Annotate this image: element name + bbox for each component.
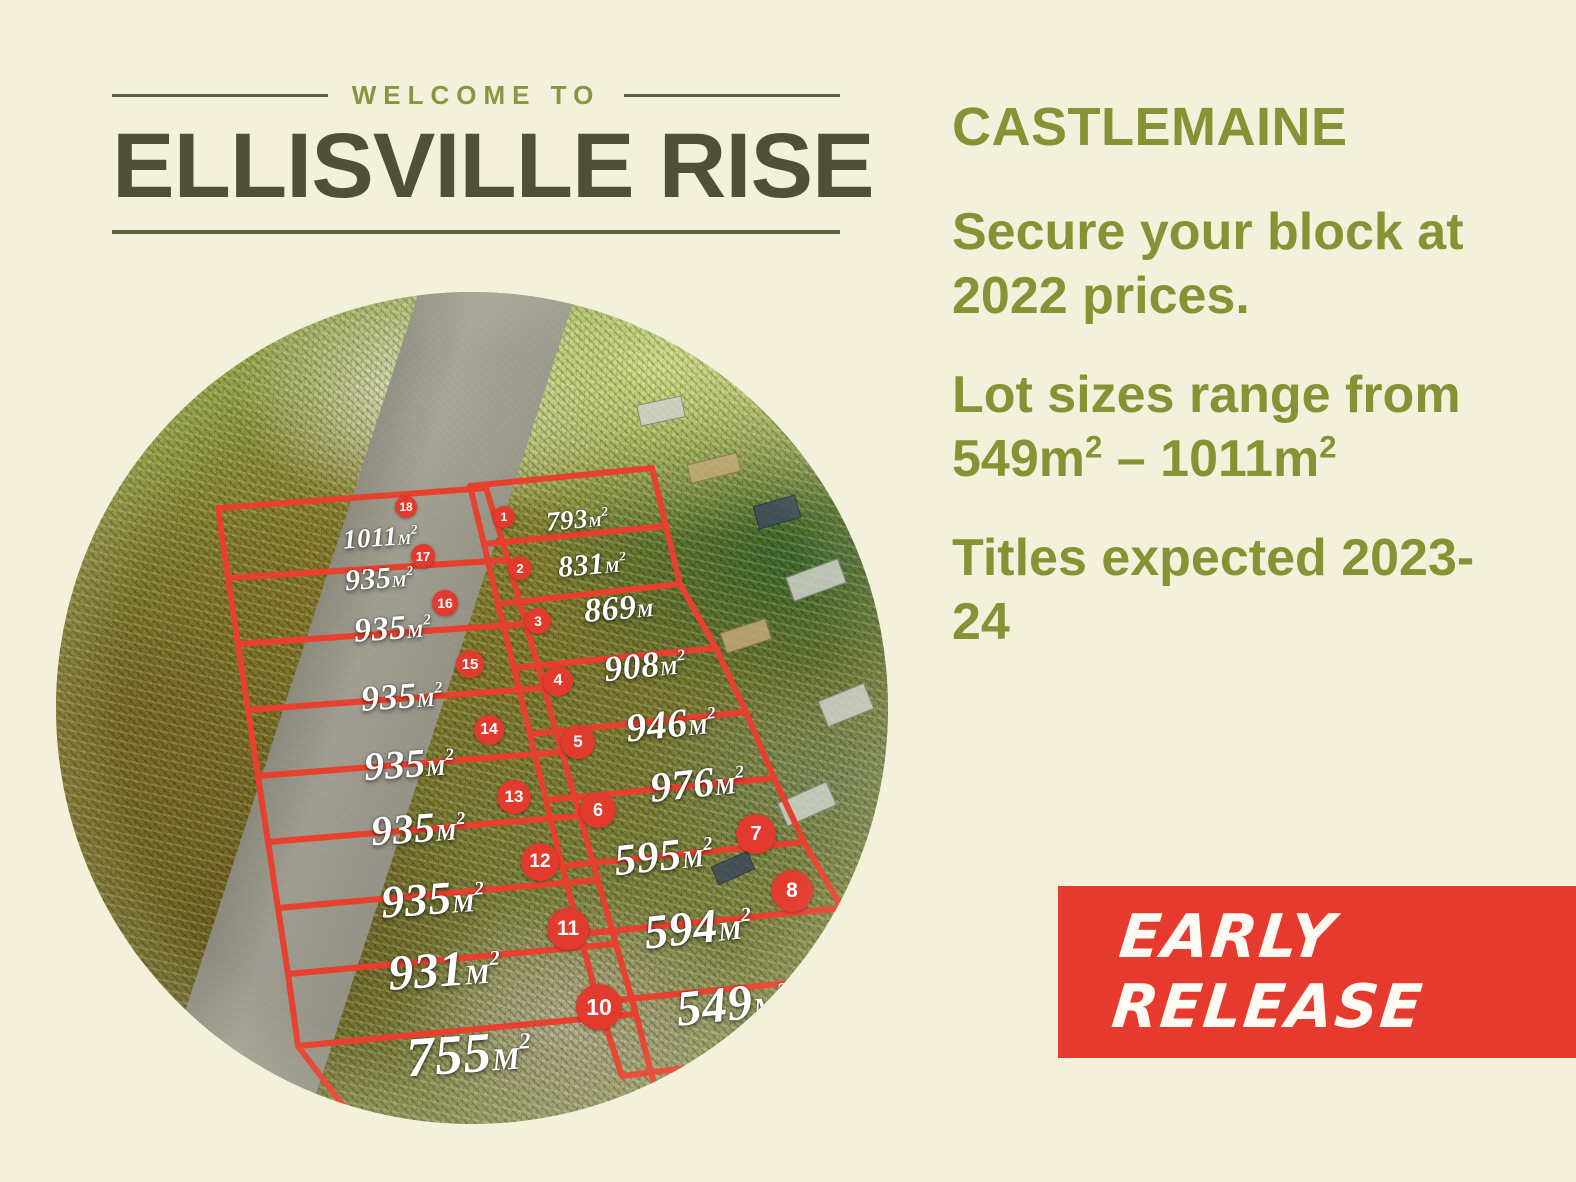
superscript-2: 2 <box>1085 430 1102 465</box>
lot-area-label-17: 935M2 <box>344 560 415 599</box>
lot-area-label-9: 549M2 <box>673 968 791 1037</box>
rule-left <box>112 94 328 97</box>
lot-marker-16[interactable]: 16 <box>432 590 458 616</box>
rule-right <box>624 94 840 97</box>
aerial-map-circle[interactable]: 1011M2 18 935M2 17 935M2 16 935M2 15 935… <box>56 292 888 1124</box>
lot-marker-17[interactable]: 17 <box>411 544 435 568</box>
suburb-name: CASTLEMAINE <box>952 96 1348 158</box>
promo-line-3: Titles expected 2023-24 <box>952 526 1512 655</box>
left-column: WELCOME TO ELLISVILLE RISE <box>0 0 920 1182</box>
promo-line-2: Lot sizes range from 549m2 – 1011m2 <box>952 363 1512 492</box>
lot-marker-12[interactable]: 12 <box>521 843 559 881</box>
early-release-badge[interactable]: EARLY RELEASE <box>1058 886 1576 1058</box>
header-block: WELCOME TO ELLISVILLE RISE <box>112 78 840 234</box>
lot-area-label-2: 831M2 <box>557 545 629 585</box>
lot-area-label-14: 935M2 <box>362 737 456 790</box>
lot-marker-1[interactable]: 1 <box>493 506 515 528</box>
lot-marker-11[interactable]: 11 <box>547 908 589 950</box>
lot-marker-15[interactable]: 15 <box>456 650 484 678</box>
lot-area-label-3: 869M <box>582 587 655 631</box>
lot-area-label-15: 935M2 <box>360 672 445 720</box>
lot-area-label-18: 1011M2 <box>342 519 419 555</box>
lot-area-label-12: 935M2 <box>379 868 486 928</box>
lot-marker-2[interactable]: 2 <box>508 556 532 580</box>
promo-line-2-c: m <box>1273 430 1319 488</box>
lot-area-label-1: 793M2 <box>545 501 610 537</box>
superscript-2: 2 <box>1319 430 1336 465</box>
lot-marker-14[interactable]: 14 <box>474 715 504 745</box>
lot-area-label-4: 908M2 <box>602 640 688 690</box>
lot-marker-3[interactable]: 3 <box>525 608 551 634</box>
right-column: CASTLEMAINE Secure your block at 2022 pr… <box>952 0 1576 1182</box>
lot-area-label-16: 935M2 <box>353 607 433 650</box>
lot-marker-8[interactable]: 8 <box>771 870 813 912</box>
promo-line-2-b: – 1011 <box>1102 430 1273 488</box>
welcome-label: WELCOME TO <box>352 80 601 111</box>
lot-marker-10[interactable]: 10 <box>576 984 622 1030</box>
lot-area-label-6: 976M2 <box>648 755 748 813</box>
lot-marker-13[interactable]: 13 <box>497 780 531 814</box>
lot-marker-4[interactable]: 4 <box>543 666 573 696</box>
lot-area-label-13: 935M2 <box>369 802 468 857</box>
promo-line-1: Secure your block at 2022 prices. <box>952 200 1512 329</box>
promo-copy: Secure your block at 2022 prices. Lot si… <box>952 200 1512 689</box>
lot-marker-7[interactable]: 7 <box>736 814 776 854</box>
lot-area-label-11: 931M2 <box>386 936 503 1002</box>
lot-area-label-8: 594M2 <box>641 894 755 960</box>
lot-area-label-5: 946M2 <box>624 695 719 751</box>
lot-area-label-10: 755M2 <box>404 1018 534 1091</box>
lot-marker-9[interactable]: 9 <box>819 932 859 972</box>
lot-area-label-7: 595M2 <box>612 825 717 886</box>
lot-marker-6[interactable]: 6 <box>580 792 616 828</box>
lot-marker-18[interactable]: 18 <box>395 496 417 518</box>
lot-marker-5[interactable]: 5 <box>561 725 595 759</box>
title-underline <box>112 230 840 234</box>
early-release-label: EARLY RELEASE <box>1109 902 1576 1042</box>
welcome-rule-row: WELCOME TO <box>112 78 840 112</box>
page-title: ELLISVILLE RISE <box>112 120 855 212</box>
